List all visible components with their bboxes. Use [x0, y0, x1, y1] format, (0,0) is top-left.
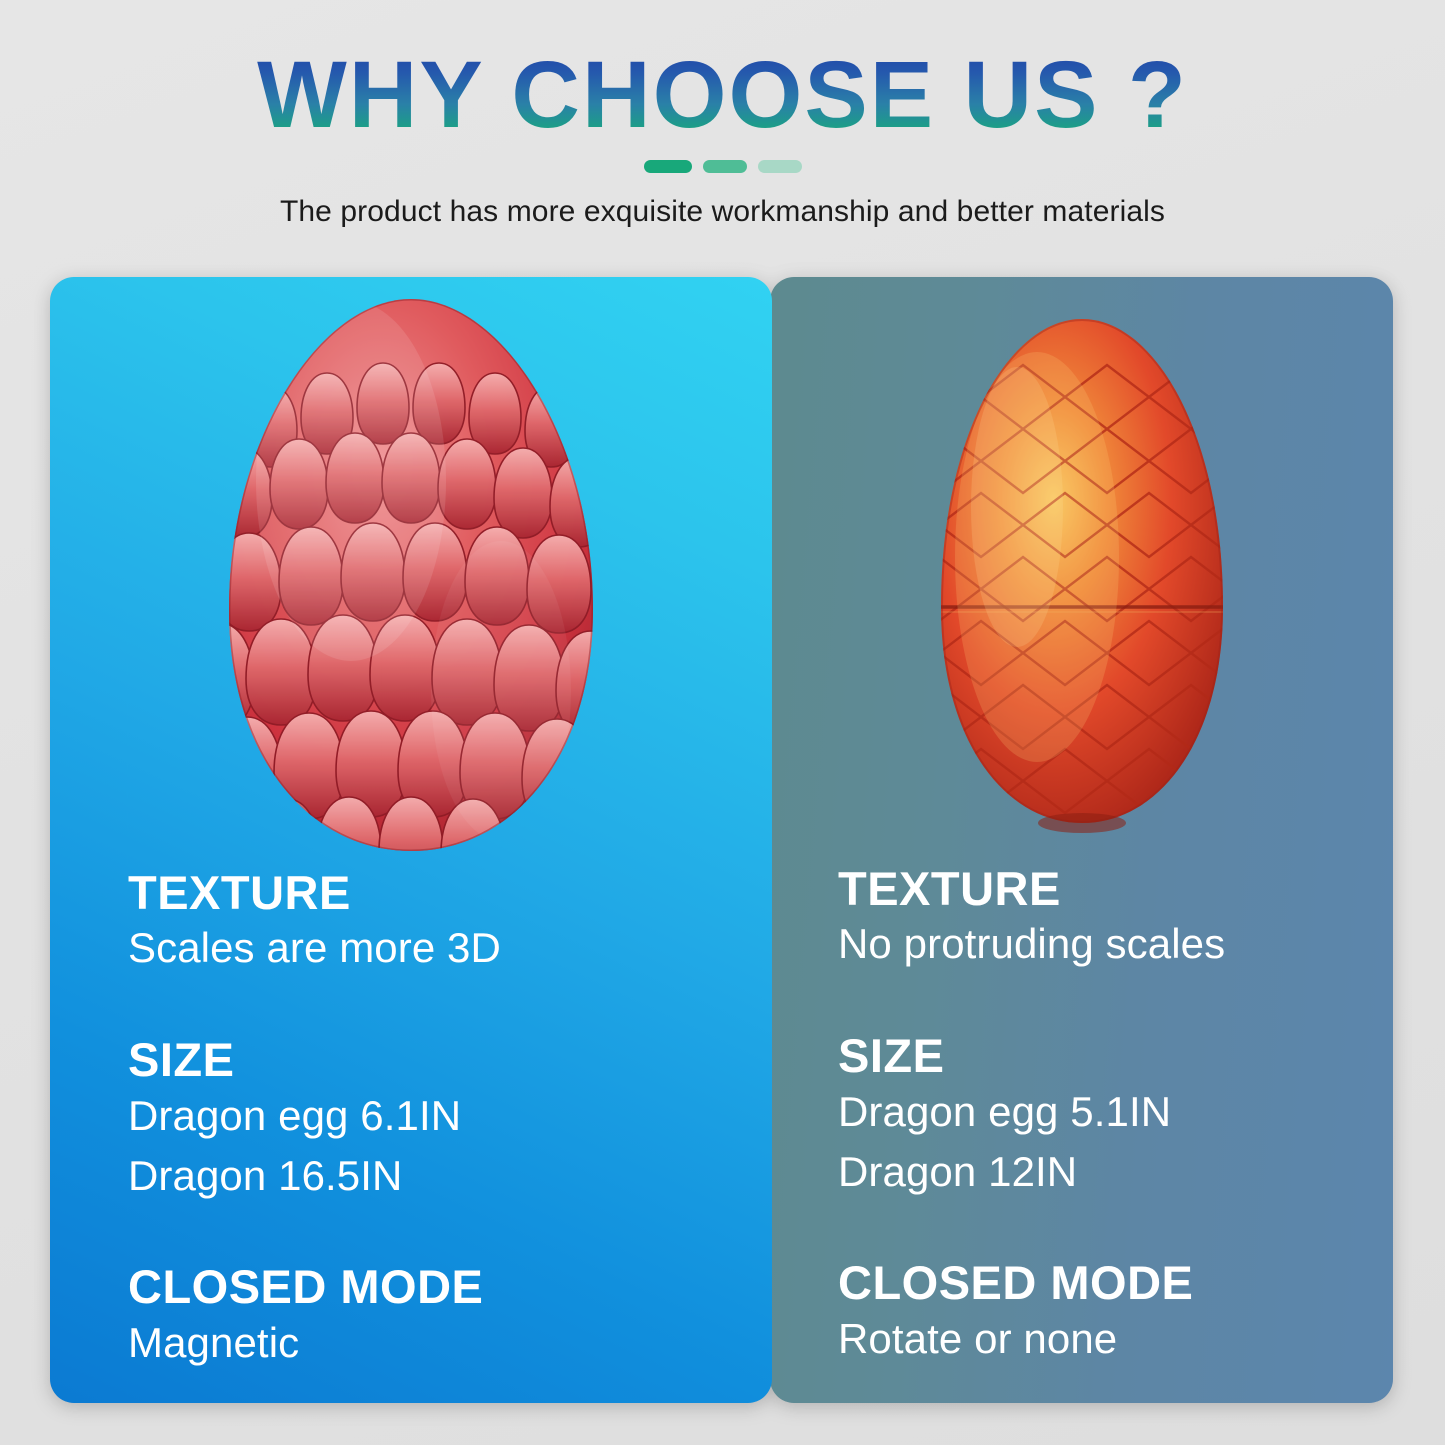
spec-size: SIZE Dragon egg 6.1IN Dragon 16.5IN	[128, 1032, 772, 1203]
dash-3-icon	[758, 160, 802, 173]
spec-texture: TEXTURE No protruding scales	[838, 861, 1393, 972]
panel-other-product[interactable]: TEXTURE No protruding scales SIZE Dragon…	[770, 277, 1393, 1403]
dash-2-icon	[703, 160, 747, 173]
spec-list-right: TEXTURE No protruding scales SIZE Dragon…	[838, 861, 1393, 1367]
spec-value-size-egg: Dragon egg 5.1IN	[838, 1084, 1393, 1140]
header: WHY CHOOSE US ? The product has more exq…	[0, 0, 1445, 229]
spec-value-texture: Scales are more 3D	[128, 920, 772, 976]
spec-label-size: SIZE	[128, 1032, 772, 1087]
product-image-left	[50, 277, 772, 877]
page-title: WHY CHOOSE US ?	[0, 46, 1445, 146]
product-image-right	[770, 277, 1393, 857]
spec-value-texture: No protruding scales	[838, 916, 1393, 972]
spec-label-closed-mode: CLOSED MODE	[128, 1259, 772, 1314]
spec-label-texture: TEXTURE	[128, 865, 772, 920]
panel-our-product[interactable]: TEXTURE Scales are more 3D SIZE Dragon e…	[50, 277, 772, 1403]
comparison-infographic: WHY CHOOSE US ? The product has more exq…	[0, 0, 1445, 1445]
spec-value-closed-mode: Rotate or none	[838, 1311, 1393, 1367]
dash-1-icon	[644, 160, 692, 173]
spec-list-left: TEXTURE Scales are more 3D SIZE Dragon e…	[128, 865, 772, 1371]
spec-value-closed-mode: Magnetic	[128, 1315, 772, 1371]
red-dragon-egg-spiked-icon	[201, 291, 621, 866]
spec-closed-mode: CLOSED MODE Magnetic	[128, 1259, 772, 1370]
spec-label-closed-mode: CLOSED MODE	[838, 1255, 1393, 1310]
spec-texture: TEXTURE Scales are more 3D	[128, 865, 772, 976]
spec-value-size-dragon: Dragon 12IN	[838, 1144, 1393, 1200]
page-subtitle: The product has more exquisite workmansh…	[0, 195, 1445, 229]
divider-dashes	[0, 160, 1445, 173]
spec-value-size-dragon: Dragon 16.5IN	[128, 1148, 772, 1204]
comparison-panels: TEXTURE Scales are more 3D SIZE Dragon e…	[50, 277, 1395, 1403]
spec-closed-mode: CLOSED MODE Rotate or none	[838, 1255, 1393, 1366]
spec-label-texture: TEXTURE	[838, 861, 1393, 916]
red-dragon-egg-flat-icon	[917, 307, 1247, 847]
spec-value-size-egg: Dragon egg 6.1IN	[128, 1088, 772, 1144]
spec-label-size: SIZE	[838, 1028, 1393, 1083]
spec-size: SIZE Dragon egg 5.1IN Dragon 12IN	[838, 1028, 1393, 1199]
